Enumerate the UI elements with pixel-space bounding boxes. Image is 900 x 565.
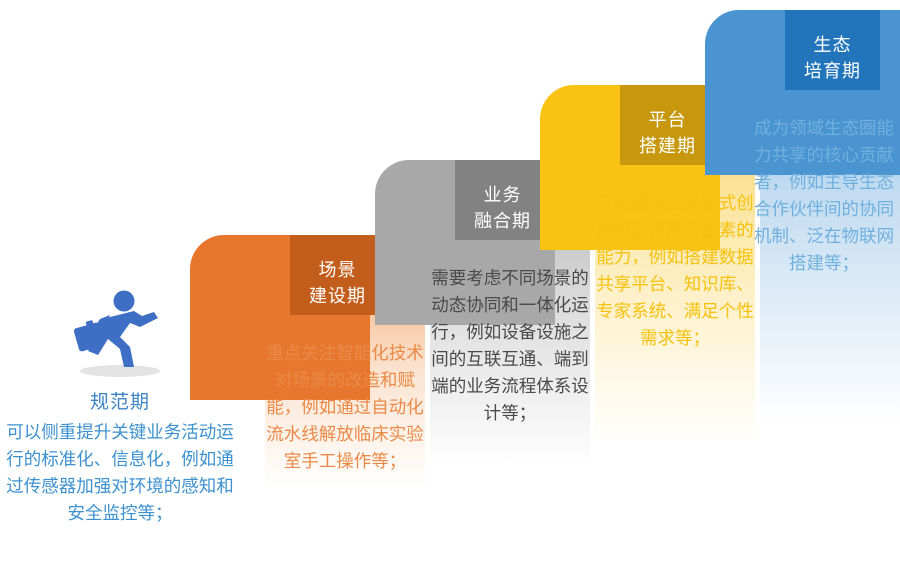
- stage-1-body-text: 重点关注智能化技术对场景的改造和赋能，例如通过自动化流水线解放临床实验室手工操作…: [265, 340, 425, 475]
- stage-2-body-text: 需要考虑不同场景的动态协同和一体化运行，例如设备设施之间的互联互通、端到端的业务…: [430, 265, 590, 427]
- infographic-canvas: 规范期 可以侧重提升关键业务活动运行的标准化、信息化，例如通过传感器加强对环境的…: [0, 0, 900, 565]
- stage-4-body-text: 成为领域生态圈能力共享的核心贡献者，例如主导生态合作伙伴间的协同机制、泛在物联网…: [748, 115, 900, 277]
- stage-3-label-line2: 搭建期: [620, 133, 715, 159]
- stage-1-label-line1: 场景: [290, 257, 385, 283]
- stage-1-label-tab: 场景 建设期: [290, 235, 385, 315]
- stage-2-label-tab: 业务 融合期: [455, 160, 550, 240]
- stage-0-body-text: 可以侧重提升关键业务活动运行的标准化、信息化，例如通过传感器加强对环境的感知和安…: [4, 419, 236, 527]
- stage-4-label-tab: 生态 培育期: [785, 10, 880, 90]
- stage-3-body-text: 开始锻炼业务模式创新和连接所有要素的能力，例如搭建数据共享平台、知识库、专家系统…: [595, 190, 755, 352]
- stage-1-label-line2: 建设期: [290, 283, 385, 309]
- stage-2-label-line2: 融合期: [455, 208, 550, 234]
- stage-3-label-tab: 平台 搭建期: [620, 85, 715, 165]
- stage-2-label-line1: 业务: [455, 182, 550, 208]
- stage-4-label-line1: 生态: [785, 32, 880, 58]
- stage-3-label-line1: 平台: [620, 107, 715, 133]
- stage-4-label-line2: 培育期: [785, 58, 880, 84]
- running-businessman-icon: [62, 289, 177, 384]
